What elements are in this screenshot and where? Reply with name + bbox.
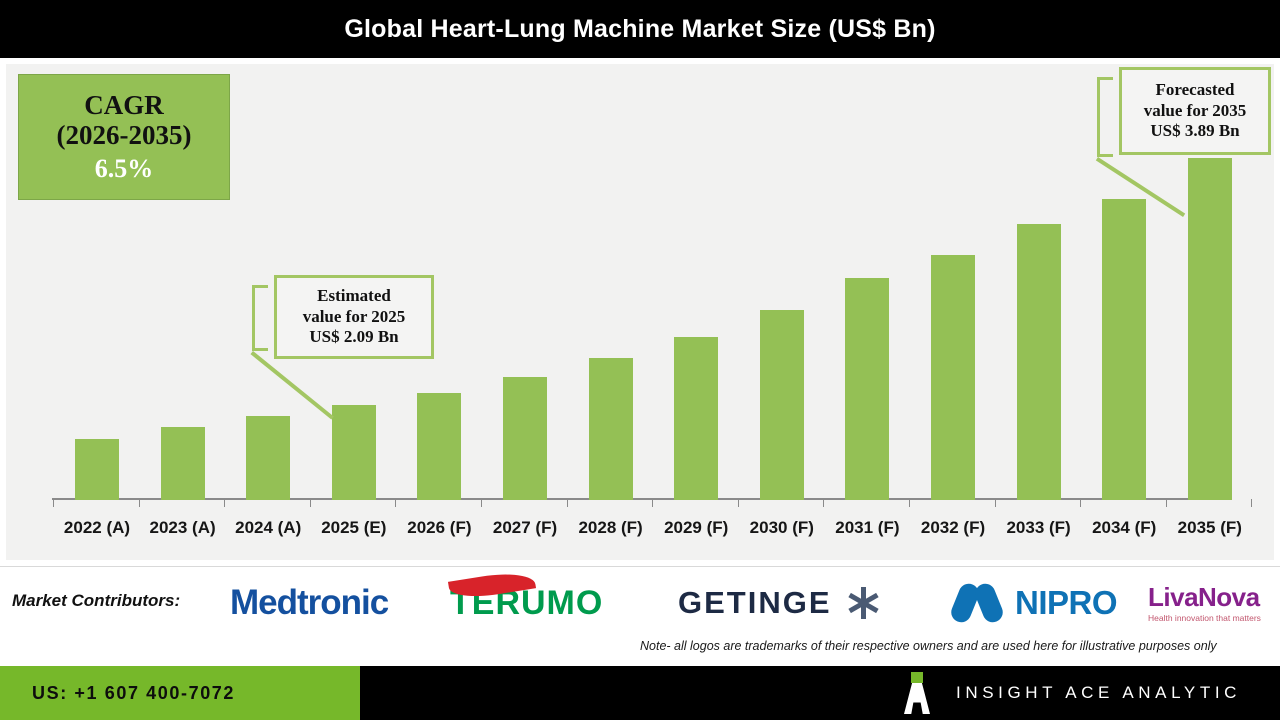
chart-panel: 2022 (A)2023 (A)2024 (A)2025 (E)2026 (F)… bbox=[0, 58, 1280, 566]
forecasted-callout-line1: Forecasted bbox=[1156, 80, 1235, 101]
x-tick bbox=[1251, 499, 1252, 507]
bar-2030 bbox=[760, 310, 804, 500]
phone-bar[interactable]: US: +1 607 400-7072 bbox=[0, 666, 360, 720]
forecasted-callout-line3: US$ 3.89 Bn bbox=[1150, 121, 1239, 142]
x-tick bbox=[395, 499, 396, 507]
bar-2035 bbox=[1188, 158, 1232, 500]
x-tick bbox=[139, 499, 140, 507]
title-bar: Global Heart-Lung Machine Market Size (U… bbox=[0, 0, 1280, 58]
bar-2028 bbox=[589, 358, 633, 500]
x-tick bbox=[1166, 499, 1167, 507]
x-tick bbox=[224, 499, 225, 507]
x-tick bbox=[567, 499, 568, 507]
logo-nipro-text: NIPRO bbox=[1015, 584, 1117, 622]
bar-2026 bbox=[417, 393, 461, 500]
x-tick bbox=[909, 499, 910, 507]
x-tick bbox=[652, 499, 653, 507]
bar-2024 bbox=[246, 416, 290, 500]
bar-2031 bbox=[845, 278, 889, 500]
x-tick bbox=[310, 499, 311, 507]
market-contributors-strip: Market Contributors: Medtronic TERUMO GE… bbox=[0, 566, 1280, 666]
bar-2023 bbox=[161, 427, 205, 500]
brand-name: INSIGHT ACE ANALYTIC bbox=[956, 683, 1241, 703]
bar-2027 bbox=[503, 377, 547, 500]
bar-2022 bbox=[75, 439, 119, 500]
insightace-logo-icon bbox=[900, 672, 934, 714]
estimated-callout-line1: Estimated bbox=[317, 286, 391, 307]
estimated-callout-line3: US$ 2.09 Bn bbox=[309, 327, 398, 348]
logo-livanova: LivaNova Health innovation that matters bbox=[1148, 577, 1261, 629]
logo-medtronic: Medtronic bbox=[230, 581, 388, 625]
brand-lockup: INSIGHT ACE ANALYTIC bbox=[900, 666, 1241, 720]
phone-number: US: +1 607 400-7072 bbox=[32, 683, 235, 704]
nipro-mark-icon bbox=[953, 584, 1007, 622]
getinge-asterisk-icon bbox=[846, 586, 880, 620]
estimated-callout-line2: value for 2025 bbox=[303, 307, 406, 328]
logo-getinge: GETINGE bbox=[678, 581, 880, 625]
trademark-note: Note- all logos are trademarks of their … bbox=[640, 639, 1280, 655]
cagr-period: (2026-2035) bbox=[57, 120, 192, 150]
estimated-value-callout: Estimated value for 2025 US$ 2.09 Bn bbox=[274, 275, 434, 359]
x-tick bbox=[53, 499, 54, 507]
logo-livanova-text: LivaNova bbox=[1148, 584, 1260, 610]
bar-2034 bbox=[1102, 199, 1146, 500]
cagr-label: CAGR bbox=[84, 90, 164, 120]
x-tick bbox=[995, 499, 996, 507]
x-tick bbox=[738, 499, 739, 507]
cagr-value: 6.5% bbox=[95, 153, 154, 184]
x-tick bbox=[1080, 499, 1081, 507]
bar-2025 bbox=[332, 405, 376, 500]
logo-getinge-text: GETINGE bbox=[678, 585, 832, 621]
logo-terumo: TERUMO bbox=[450, 581, 603, 625]
logo-livanova-tagline: Health innovation that matters bbox=[1148, 613, 1261, 623]
bar-2029 bbox=[674, 337, 718, 500]
x-tick bbox=[481, 499, 482, 507]
forecasted-callout-line2: value for 2035 bbox=[1144, 101, 1247, 122]
x-axis-label: 2035 (F) bbox=[1160, 518, 1260, 538]
market-contributors-label: Market Contributors: bbox=[12, 591, 180, 611]
page-title: Global Heart-Lung Machine Market Size (U… bbox=[344, 15, 935, 44]
logo-medtronic-text: Medtronic bbox=[230, 583, 388, 623]
cagr-badge: CAGR (2026-2035) 6.5% bbox=[18, 74, 230, 200]
bar-2033 bbox=[1017, 224, 1061, 500]
logo-nipro: NIPRO bbox=[953, 581, 1117, 625]
x-tick bbox=[823, 499, 824, 507]
estimated-callout-bracket bbox=[252, 285, 268, 351]
bar-2032 bbox=[931, 255, 975, 500]
forecasted-callout-bracket bbox=[1097, 77, 1113, 157]
forecasted-value-callout: Forecasted value for 2035 US$ 3.89 Bn bbox=[1119, 67, 1271, 155]
footer-bar: US: +1 607 400-7072 INSIGHT ACE ANALYTIC bbox=[0, 666, 1280, 720]
